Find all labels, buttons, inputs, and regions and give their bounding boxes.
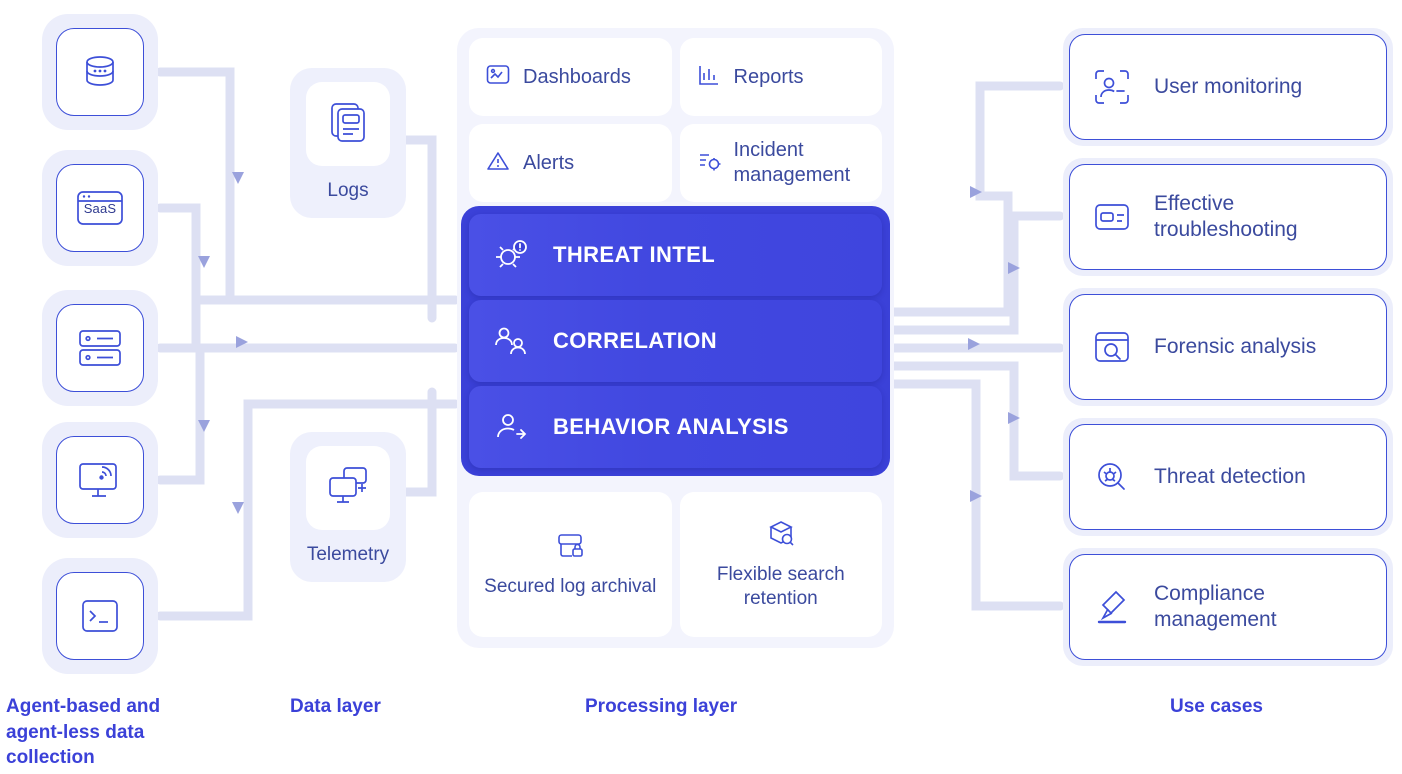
processing-card-dashboards[interactable]: Dashboards [469, 38, 672, 116]
use-case-card-forensic-analysis[interactable]: Forensic analysis [1063, 288, 1393, 406]
hero-row-threat-intel[interactable]: THREAT INTEL [469, 214, 882, 296]
source-icon-frame: SaaS [56, 164, 144, 252]
dashboard-icon [485, 62, 511, 93]
telemetry-devices-icon [322, 462, 374, 515]
use-case-inner: Compliance management [1069, 554, 1387, 660]
use-case-inner: Forensic analysis [1069, 294, 1387, 400]
source-icon-frame [56, 572, 144, 660]
column-caption-data-layer: Data layer [290, 694, 480, 720]
behavior-user-icon [469, 386, 553, 468]
source-icon-frame [56, 28, 144, 116]
processing-card-incident-management[interactable]: Incident management [680, 124, 883, 202]
use-case-label: Threat detection [1154, 464, 1306, 490]
terminal-icon [77, 595, 123, 637]
incident-gear-icon [696, 148, 722, 179]
use-case-inner: User monitoring [1069, 34, 1387, 140]
use-case-inner: Threat detection [1069, 424, 1387, 530]
processing-card-flexible-search-retention[interactable]: Flexible search retention [680, 492, 883, 637]
column-caption-use-cases: Use cases [1170, 694, 1390, 720]
processing-label: Incident management [734, 138, 867, 188]
secure-archive-icon [554, 530, 586, 567]
source-icon-frame [56, 304, 144, 392]
processing-card-secured-log-archival[interactable]: Secured log archival [469, 492, 672, 637]
correlation-users-icon [469, 300, 553, 382]
server-rack-icon [75, 326, 125, 370]
data-layer-label-logs: Logs [327, 180, 368, 202]
use-case-card-user-monitoring[interactable]: User monitoring [1063, 28, 1393, 146]
source-label-saas: SaaS [84, 201, 117, 216]
processing-label: Alerts [523, 151, 574, 176]
processing-hero-panel: THREAT INTEL CORRELATION BE [461, 206, 890, 476]
data-layer-icon-frame [306, 82, 390, 166]
user-monitor-icon [1084, 65, 1140, 109]
data-layer-label-telemetry: Telemetry [307, 544, 389, 566]
use-case-label: Forensic analysis [1154, 334, 1316, 360]
column-caption-collection: Agent-based and agent-less data collecti… [6, 694, 206, 771]
source-icon-frame [56, 436, 144, 524]
use-case-inner: Effective troubleshooting [1069, 164, 1387, 270]
diagram-canvas: SaaS [0, 0, 1402, 774]
use-case-card-effective-troubleshooting[interactable]: Effective troubleshooting [1063, 158, 1393, 276]
forensic-search-icon [1084, 325, 1140, 369]
use-case-label: Effective troubleshooting [1154, 191, 1368, 242]
processing-label: Reports [734, 65, 804, 90]
processing-label: Secured log archival [484, 575, 656, 599]
endpoint-monitor-icon [74, 456, 126, 504]
hero-row-correlation[interactable]: CORRELATION [469, 300, 882, 382]
hero-label: CORRELATION [553, 328, 717, 354]
source-card-database[interactable] [42, 14, 158, 130]
search-box-icon [765, 518, 797, 555]
source-card-server[interactable] [42, 290, 158, 406]
database-icon [80, 52, 120, 92]
use-case-label: User monitoring [1154, 74, 1302, 100]
source-card-endpoint[interactable] [42, 422, 158, 538]
source-card-saas[interactable]: SaaS [42, 150, 158, 266]
source-card-terminal[interactable] [42, 558, 158, 674]
log-files-icon [324, 98, 372, 151]
hero-label: BEHAVIOR ANALYSIS [553, 414, 789, 440]
alert-triangle-icon [485, 148, 511, 179]
column-caption-processing-layer: Processing layer [585, 694, 815, 720]
use-case-card-compliance-management[interactable]: Compliance management [1063, 548, 1393, 666]
processing-label: Flexible search retention [690, 563, 873, 611]
data-layer-icon-frame [306, 446, 390, 530]
processing-card-alerts[interactable]: Alerts [469, 124, 672, 202]
data-layer-card-telemetry[interactable]: Telemetry [290, 432, 406, 582]
data-layer-card-logs[interactable]: Logs [290, 68, 406, 218]
troubleshooting-card-icon [1084, 195, 1140, 239]
compliance-stamp-icon [1084, 585, 1140, 629]
processing-card-reports[interactable]: Reports [680, 38, 883, 116]
hero-label: THREAT INTEL [553, 242, 715, 268]
processing-bottom-grid: Secured log archival Flexible search ret… [469, 492, 882, 637]
hero-row-behavior-analysis[interactable]: BEHAVIOR ANALYSIS [469, 386, 882, 468]
threat-detect-icon [1084, 455, 1140, 499]
processing-top-grid: Dashboards Reports Alerts [469, 38, 882, 202]
threat-bug-icon [469, 214, 553, 296]
processing-label: Dashboards [523, 65, 631, 90]
use-case-label: Compliance management [1154, 581, 1368, 632]
reports-chart-icon [696, 62, 722, 93]
use-case-card-threat-detection[interactable]: Threat detection [1063, 418, 1393, 536]
